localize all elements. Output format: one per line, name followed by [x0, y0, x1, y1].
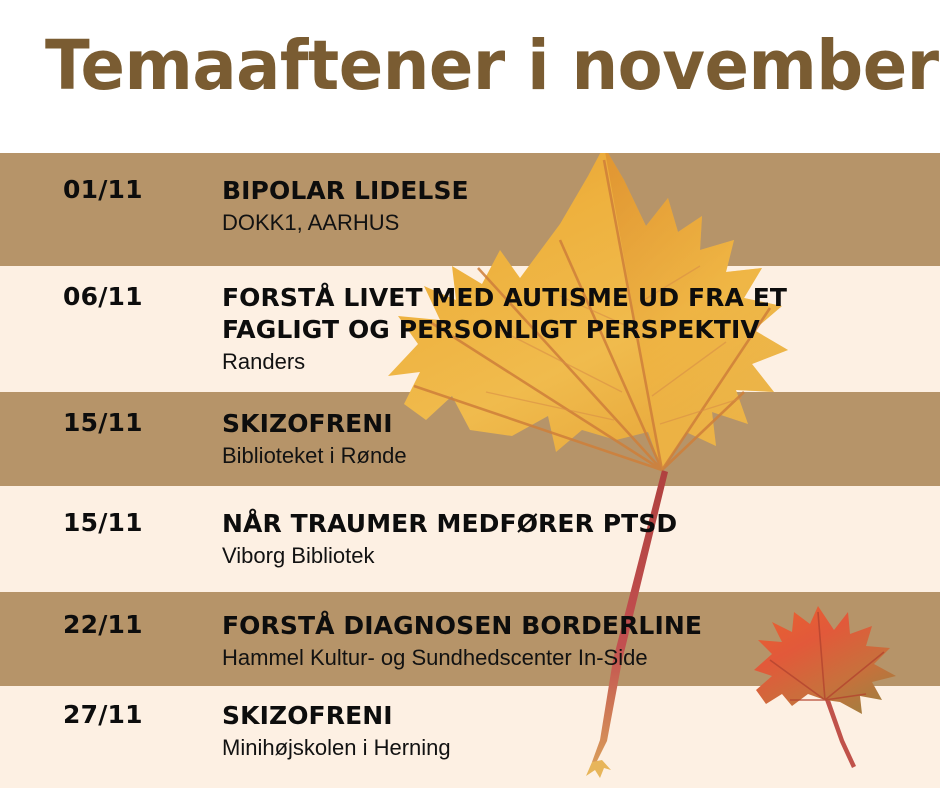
- event-body: BIPOLAR LIDELSEDOKK1, AARHUS: [222, 175, 940, 238]
- event-title-line-1: FORSTÅ LIVET MED AUTISME UD FRA ET: [222, 283, 787, 312]
- poster-header: Temaaftener i november: [0, 0, 940, 153]
- event-title-line-1: FORSTÅ DIAGNOSEN BORDERLINE: [222, 611, 702, 640]
- event-venue: DOKK1, AARHUS: [222, 208, 940, 238]
- event-venue: Biblioteket i Rønde: [222, 441, 940, 471]
- event-date: 27/11: [0, 700, 222, 730]
- event-body: FORSTÅ LIVET MED AUTISME UD FRA ETFAGLIG…: [222, 282, 940, 377]
- event-row[interactable]: 15/11NÅR TRAUMER MEDFØRER PTSDViborg Bib…: [0, 508, 940, 571]
- page-title: Temaaftener i november: [45, 26, 939, 106]
- event-title-line-2: FAGLIGT OG PERSONLIGT PERSPEKTIV: [222, 314, 940, 346]
- event-date: 15/11: [0, 508, 222, 538]
- event-title: SKIZOFRENI: [222, 700, 940, 732]
- event-date: 01/11: [0, 175, 222, 205]
- event-title-line-1: SKIZOFRENI: [222, 409, 393, 438]
- event-body: SKIZOFRENIBiblioteket i Rønde: [222, 408, 940, 471]
- event-venue: Viborg Bibliotek: [222, 541, 940, 571]
- event-date: 15/11: [0, 408, 222, 438]
- event-row[interactable]: 01/11BIPOLAR LIDELSEDOKK1, AARHUS: [0, 175, 940, 238]
- event-row[interactable]: 22/11FORSTÅ DIAGNOSEN BORDERLINEHammel K…: [0, 610, 940, 673]
- event-venue: Hammel Kultur- og Sundhedscenter In-Side: [222, 643, 940, 673]
- event-venue: Minihøjskolen i Herning: [222, 733, 940, 763]
- poster-canvas: Temaaftener i november 01/11BIPOLAR LIDE…: [0, 0, 940, 788]
- event-title: NÅR TRAUMER MEDFØRER PTSD: [222, 508, 940, 540]
- event-row[interactable]: 15/11SKIZOFRENIBiblioteket i Rønde: [0, 408, 940, 471]
- event-body: SKIZOFRENIMinihøjskolen i Herning: [222, 700, 940, 763]
- event-body: FORSTÅ DIAGNOSEN BORDERLINEHammel Kultur…: [222, 610, 940, 673]
- event-title: SKIZOFRENI: [222, 408, 940, 440]
- event-title-line-1: NÅR TRAUMER MEDFØRER PTSD: [222, 509, 677, 538]
- event-body: NÅR TRAUMER MEDFØRER PTSDViborg Bibliote…: [222, 508, 940, 571]
- event-date: 22/11: [0, 610, 222, 640]
- event-title-line-1: BIPOLAR LIDELSE: [222, 176, 469, 205]
- event-row[interactable]: 27/11SKIZOFRENIMinihøjskolen i Herning: [0, 700, 940, 763]
- event-row[interactable]: 06/11FORSTÅ LIVET MED AUTISME UD FRA ETF…: [0, 282, 940, 377]
- event-venue: Randers: [222, 347, 940, 377]
- event-title: FORSTÅ LIVET MED AUTISME UD FRA ETFAGLIG…: [222, 282, 940, 346]
- event-title-line-1: SKIZOFRENI: [222, 701, 393, 730]
- event-title: BIPOLAR LIDELSE: [222, 175, 940, 207]
- event-date: 06/11: [0, 282, 222, 312]
- event-title: FORSTÅ DIAGNOSEN BORDERLINE: [222, 610, 940, 642]
